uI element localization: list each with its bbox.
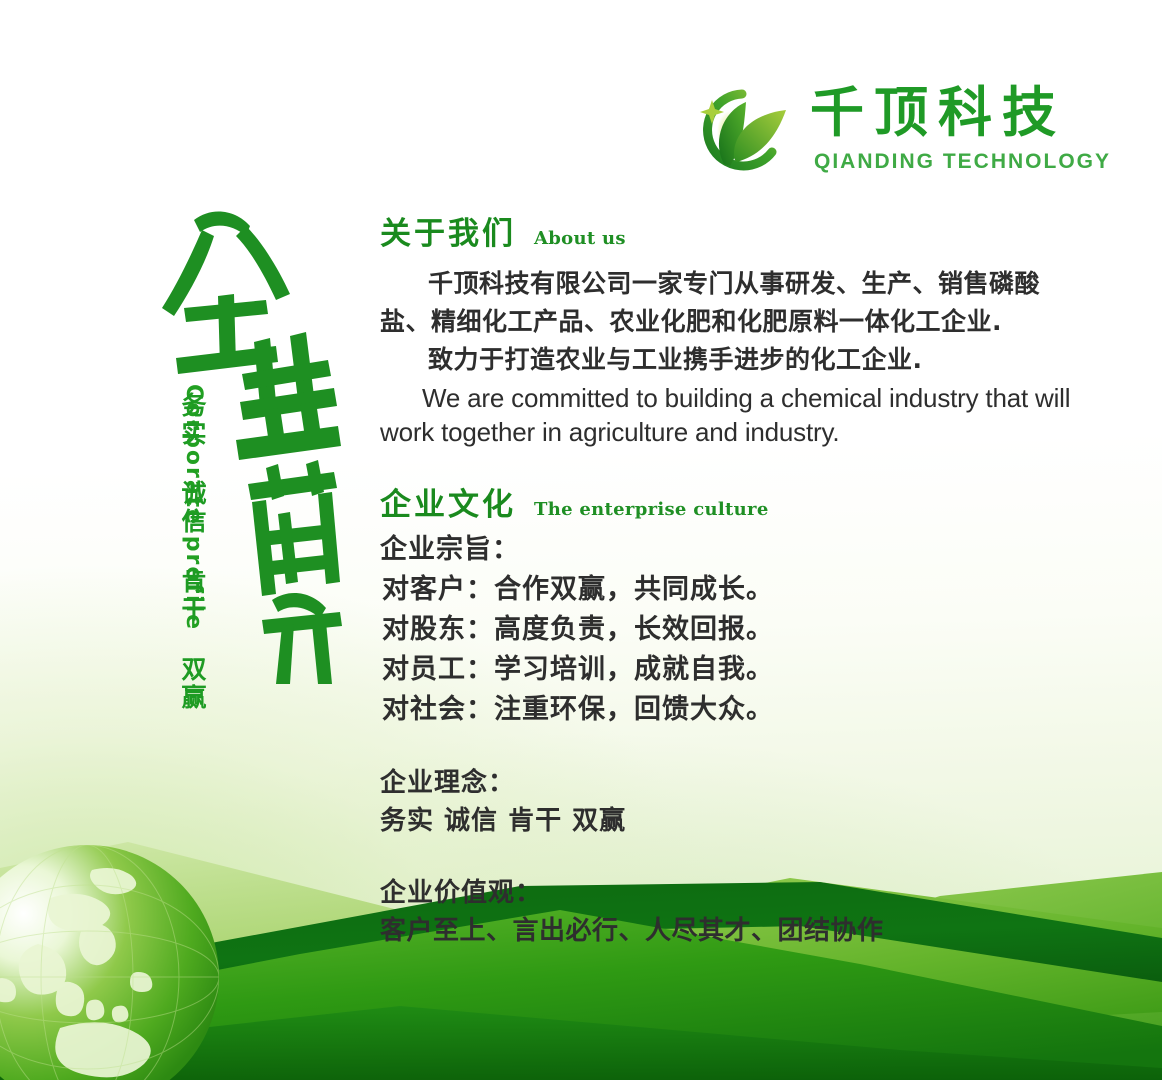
culture-philosophy-block: 企业理念： 务实 诚信 肯干 双赢 bbox=[380, 764, 1080, 840]
about-paragraph-cn-1-text: 千顶科技有限公司一家专门从事研发、生产、销售磷酸盐、精细化工产品、农业化肥和化肥… bbox=[380, 265, 1080, 341]
about-paragraph-cn-2: 致力于打造农业与工业携手进步的化工企业. bbox=[380, 341, 1080, 379]
content-column: 关于我们 About us 千顶科技有限公司一家专门从事研发、生产、销售磷酸盐、… bbox=[380, 208, 1080, 950]
about-paragraph-en-text: We are committed to building a chemical … bbox=[380, 381, 1080, 449]
logo-name-en: QIANDING TECHNOLOGY bbox=[814, 150, 1111, 174]
vertical-title-block: Corporate profile 务实 诚信 肯干 双赢 bbox=[150, 196, 380, 686]
about-paragraph-cn-1: 千顶科技有限公司一家专门从事研发、生产、销售磷酸盐、精细化工产品、农业化肥和化肥… bbox=[380, 265, 1080, 341]
company-logo: 千顶科技 QIANDING TECHNOLOGY bbox=[690, 84, 1090, 184]
culture-values-label: 企业价值观： bbox=[380, 874, 1080, 912]
about-paragraph-en: We are committed to building a chemical … bbox=[380, 381, 1080, 449]
culture-purpose-block: 企业宗旨： 对客户：合作双赢，共同成长。 对股东：高度负责，长效回报。 对员工：… bbox=[380, 530, 1080, 730]
culture-heading-en: The enterprise culture bbox=[534, 499, 769, 520]
vertical-title-motto: 务实 诚信 肯干 双赢 bbox=[178, 392, 208, 712]
about-heading: 关于我们 About us bbox=[380, 208, 1080, 253]
leaf-circle-logo-icon bbox=[690, 84, 802, 176]
about-paragraph-cn-2-text: 致力于打造农业与工业携手进步的化工企业. bbox=[380, 341, 1080, 379]
culture-philosophy-value: 务实 诚信 肯干 双赢 bbox=[380, 802, 1080, 840]
about-heading-cn: 关于我们 bbox=[380, 208, 516, 253]
culture-values-block: 企业价值观： 客户至上、言出必行、人尽其才、团结协作 bbox=[380, 874, 1080, 950]
culture-purpose-item: 对员工：学习培训，成就自我。 bbox=[380, 650, 1080, 690]
culture-philosophy-label: 企业理念： bbox=[380, 764, 1080, 802]
culture-heading-cn: 企业文化 bbox=[380, 479, 516, 524]
culture-heading: 企业文化 The enterprise culture bbox=[380, 479, 1080, 524]
culture-purpose-label: 企业宗旨： bbox=[380, 530, 1080, 570]
green-globe-icon bbox=[0, 832, 232, 1080]
culture-values-value: 客户至上、言出必行、人尽其才、团结协作 bbox=[380, 912, 1080, 950]
culture-purpose-item: 对社会：注重环保，回馈大众。 bbox=[380, 690, 1080, 730]
poster-root: 千顶科技 QIANDING TECHNOLOGY bbox=[0, 0, 1162, 1080]
culture-purpose-item: 对股东：高度负责，长效回报。 bbox=[380, 610, 1080, 650]
culture-purpose-item: 对客户：合作双赢，共同成长。 bbox=[380, 570, 1080, 610]
about-heading-en: About us bbox=[534, 228, 626, 249]
logo-name-cn: 千顶科技 bbox=[810, 82, 1066, 144]
